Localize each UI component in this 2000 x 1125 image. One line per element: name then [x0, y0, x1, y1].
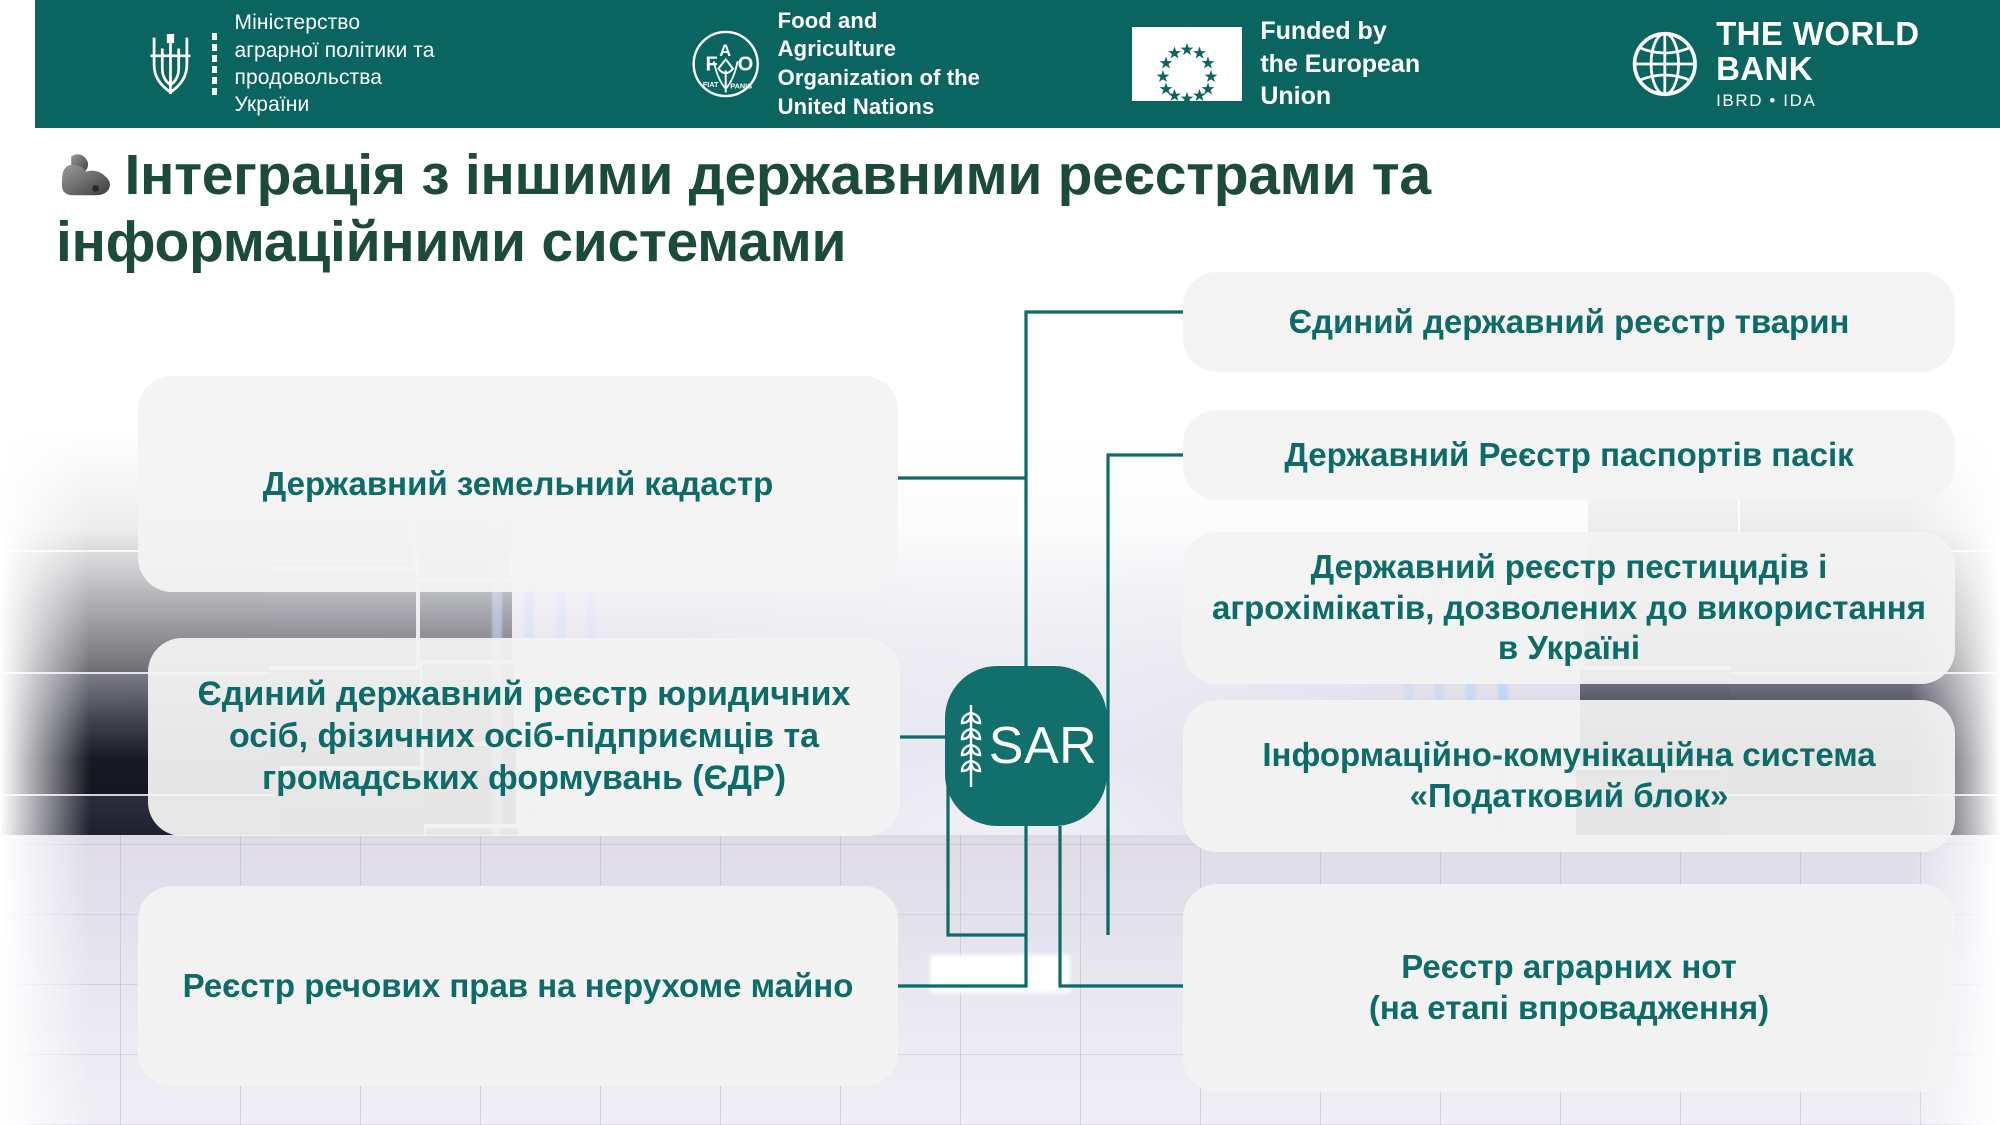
page-title-text: Інтеграція з іншими державними реєстрами… — [56, 143, 1431, 274]
svg-text:PANIS: PANIS — [731, 82, 753, 91]
eu-flag-icon — [1132, 27, 1242, 101]
eu-label: Funded by the European Union — [1260, 15, 1468, 113]
world-bank-label: THE WORLD BANK IBRD • IDA — [1716, 17, 2000, 110]
world-bank-globe-icon — [1630, 26, 1700, 102]
header-bar: Міністерство аграрної політики та продов… — [35, 0, 2000, 128]
ministry-line-2: аграрної політики та — [235, 37, 443, 64]
logo-world-bank: THE WORLD BANK IBRD • IDA — [1630, 17, 2000, 110]
logo-fao: F A O FIAT PANIS Food and Agriculture Or… — [690, 7, 982, 121]
fao-wheat-circle-icon: F A O FIAT PANIS — [690, 25, 761, 103]
fao-line-1: Food and Agriculture — [778, 7, 983, 64]
eu-line-1: Funded by — [1260, 15, 1468, 48]
ministry-line-3: продовольства України — [235, 64, 443, 119]
logo-ministry: Міністерство аграрної політики та продов… — [145, 9, 442, 118]
fao-line-3: United Nations — [778, 93, 983, 122]
logo-european-union: Funded by the European Union — [1132, 15, 1468, 113]
world-bank-name: THE WORLD BANK — [1716, 17, 2000, 86]
fao-line-2: Organization of the — [778, 64, 983, 93]
eu-line-2: the European Union — [1260, 48, 1468, 113]
svg-text:A: A — [720, 42, 732, 60]
svg-text:FIAT: FIAT — [703, 80, 719, 89]
slide-root: Міністерство аграрної політики та продов… — [0, 0, 2000, 1125]
logo-divider — [212, 33, 217, 95]
page-title: Інтеграція з іншими державними реєстрами… — [56, 142, 1816, 275]
world-bank-sub: IBRD • IDA — [1716, 91, 2000, 111]
ukraine-trident-icon — [145, 25, 196, 103]
ministry-label: Міністерство аграрної політики та продов… — [235, 9, 443, 118]
fao-label: Food and Agriculture Organization of the… — [778, 7, 983, 121]
ministry-line-1: Міністерство — [235, 9, 443, 36]
flexed-biceps-icon — [56, 148, 110, 202]
svg-text:O: O — [738, 53, 754, 75]
